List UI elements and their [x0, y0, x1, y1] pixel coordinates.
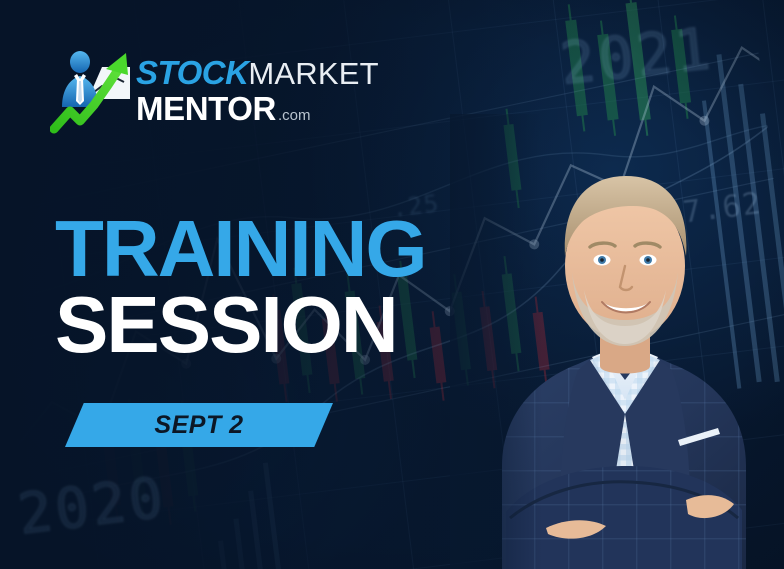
logo-text-market: MARKET	[248, 58, 378, 89]
brand-logo[interactable]: STOCK MARKET MENTOR .com	[50, 45, 379, 135]
logo-text-com: .com	[278, 108, 311, 123]
date-banner[interactable]: SEPT 2	[65, 403, 333, 447]
headline-line-training: TRAINING	[55, 212, 426, 286]
training-session-promo-banner: 2021 2020 97.62 .25	[0, 0, 784, 569]
headline-line-session: SESSION	[55, 288, 426, 362]
logo-wordmark: STOCK MARKET MENTOR .com	[136, 56, 379, 125]
date-banner-label: SEPT 2	[154, 411, 243, 440]
logo-text-stock: STOCK	[136, 56, 248, 89]
logo-text-mentor: MENTOR	[136, 92, 276, 125]
logo-mark-icon	[50, 45, 134, 135]
presenter-photo	[450, 114, 780, 569]
headline-block: TRAINING SESSION	[55, 212, 426, 361]
